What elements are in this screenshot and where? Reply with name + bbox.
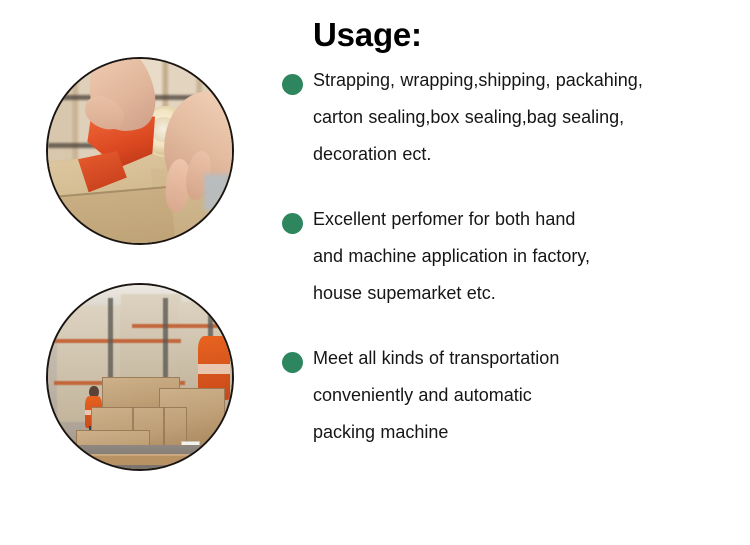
list-item: Strapping, wrapping,shipping, packahing,… — [282, 62, 750, 173]
list-item-line: packing machine — [313, 422, 448, 442]
list-item-text: Strapping, wrapping,shipping, packahing,… — [313, 62, 743, 173]
text-column: Usage: Strapping, wrapping,shipping, pac… — [282, 0, 750, 545]
bullet-dot-icon — [282, 74, 303, 95]
list-item-line: Excellent perfomer for both hand — [313, 209, 575, 229]
list-item-line: Meet all kinds of transportation — [313, 348, 559, 368]
list-item-line: decoration ect. — [313, 144, 431, 164]
photo2-rack-beam-3 — [132, 324, 234, 328]
taping-carton-photo — [46, 57, 234, 245]
list-item-line: Strapping, wrapping,shipping, packahing, — [313, 70, 643, 90]
list-item-line: house supemarket etc. — [313, 283, 496, 303]
taping-carton-photo-content — [46, 57, 234, 245]
usage-infographic: Usage: Strapping, wrapping,shipping, pac… — [0, 0, 750, 545]
list-item-text: Excellent perfomer for both hand and mac… — [313, 201, 743, 312]
photo2-wooden-pallet — [87, 454, 192, 465]
usage-bullet-list: Strapping, wrapping,shipping, packahing,… — [282, 62, 750, 479]
photo1-grey-background-panel — [204, 174, 234, 212]
bullet-dot-icon — [282, 213, 303, 234]
list-item-text: Meet all kinds of transportation conveni… — [313, 340, 743, 451]
list-item: Meet all kinds of transportation conveni… — [282, 340, 750, 451]
photo2-vest-reflective-stripe — [198, 364, 230, 374]
list-item: Excellent perfomer for both hand and mac… — [282, 201, 750, 312]
warehouse-photo — [46, 283, 234, 471]
photo-column — [0, 0, 282, 545]
list-item-line: conveniently and automatic — [313, 385, 532, 405]
photo1-carton-front — [46, 186, 177, 245]
warehouse-photo-content — [46, 283, 234, 471]
list-item-line: and machine application in factory, — [313, 246, 590, 266]
list-item-line: carton sealing,box sealing,bag sealing, — [313, 107, 624, 127]
page-title: Usage: — [313, 16, 422, 54]
bullet-dot-icon — [282, 352, 303, 373]
